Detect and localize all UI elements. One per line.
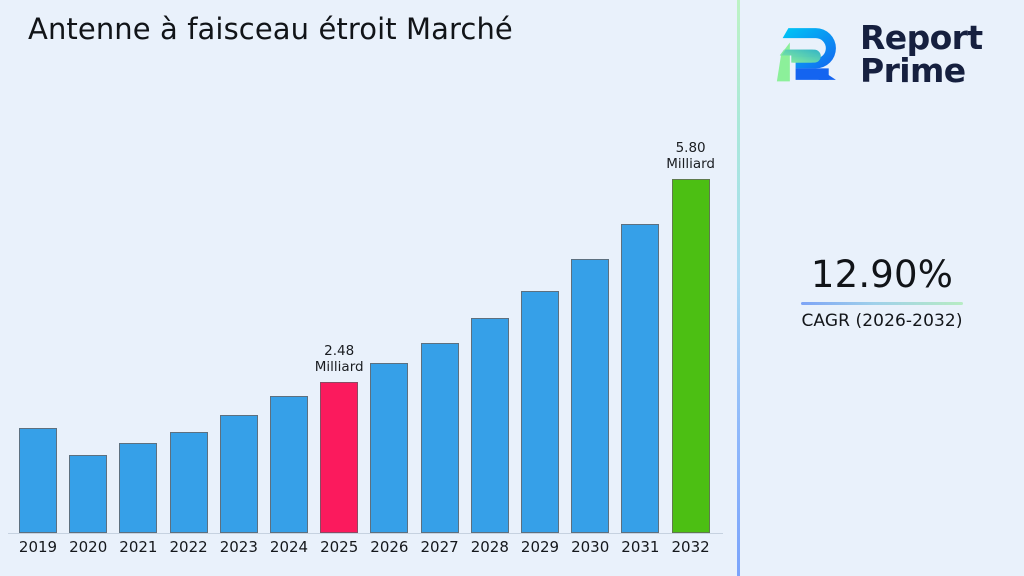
bar-chart: 2019202020212022202320242.48 Milliard202…: [0, 0, 738, 576]
bar-rect-2023[interactable]: [220, 415, 258, 533]
bar-rect-2027[interactable]: [421, 343, 459, 533]
x-tick-2032: 2032: [661, 538, 721, 556]
brand-logo: Report Prime: [774, 14, 1006, 94]
bar-rect-2024[interactable]: [270, 396, 308, 533]
chart-panel: Antenne à faisceau étroit Marché 2019202…: [0, 0, 738, 576]
bar-2019[interactable]: [19, 428, 57, 533]
bar-rect-2022[interactable]: [170, 432, 208, 533]
bar-2023[interactable]: [220, 415, 258, 533]
bar-rect-2021[interactable]: [119, 443, 157, 533]
bar-rect-2031[interactable]: [621, 224, 659, 533]
bar-2020[interactable]: [69, 455, 107, 533]
bar-2026[interactable]: [370, 363, 408, 533]
bar-2021[interactable]: [119, 443, 157, 533]
infographic-root: Antenne à faisceau étroit Marché 2019202…: [0, 0, 1024, 576]
bar-value-label-2032: 5.80 Milliard: [646, 140, 736, 173]
x-axis-line: [8, 533, 723, 534]
bar-rect-2032[interactable]: [672, 179, 710, 533]
bar-2031[interactable]: [621, 224, 659, 533]
bar-rect-2029[interactable]: [521, 291, 559, 533]
report-prime-logo-icon: [774, 18, 846, 90]
bar-2030[interactable]: [571, 259, 609, 533]
bar-2028[interactable]: [471, 318, 509, 533]
bar-rect-2028[interactable]: [471, 318, 509, 533]
brand-name: Report Prime: [860, 21, 983, 87]
bar-rect-2025[interactable]: [320, 382, 358, 533]
cagr-value: 12.90%: [740, 255, 1024, 296]
bar-2029[interactable]: [521, 291, 559, 533]
cagr-divider-rule: [801, 302, 963, 305]
bar-2032[interactable]: 5.80 Milliard: [672, 179, 710, 533]
bar-rect-2019[interactable]: [19, 428, 57, 533]
cagr-summary: 12.90% CAGR (2026-2032): [740, 255, 1024, 331]
cagr-caption: CAGR (2026-2032): [740, 311, 1024, 331]
summary-panel: Report Prime 12.90% CAGR (2026-2032): [740, 0, 1024, 576]
bar-rect-2030[interactable]: [571, 259, 609, 533]
bar-rect-2020[interactable]: [69, 455, 107, 533]
bar-2022[interactable]: [170, 432, 208, 533]
bar-2025[interactable]: 2.48 Milliard: [320, 382, 358, 533]
bar-rect-2026[interactable]: [370, 363, 408, 533]
bar-2024[interactable]: [270, 396, 308, 533]
bar-2027[interactable]: [421, 343, 459, 533]
